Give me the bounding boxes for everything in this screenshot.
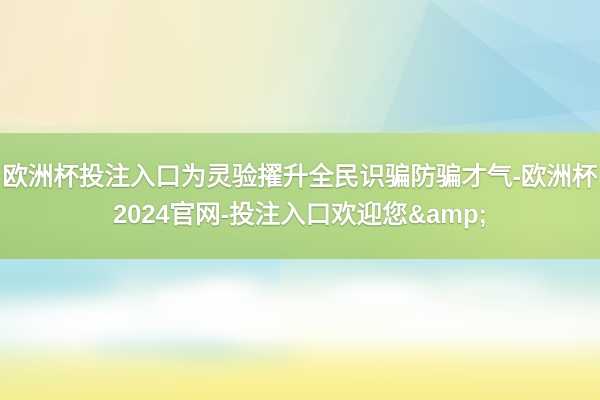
sky-cloud-band (0, 259, 600, 400)
cloud-puff-5 (430, 277, 550, 299)
cloud-puff-3 (330, 283, 434, 307)
cloud-puff-4 (28, 305, 148, 331)
headline-line-1: 欧洲杯投注入口为灵验擢升全民识骗防骗才气-欧洲杯 (3, 160, 598, 194)
cloud-puff-2 (196, 281, 258, 305)
top-polygon-band (0, 0, 600, 134)
headline-line-2: 2024官网-投注入口欢迎您&amp; (113, 198, 487, 232)
headline-block: 欧洲杯投注入口为灵验擢升全民识骗防骗才气-欧洲杯 2024官网-投注入口欢迎您&… (0, 133, 600, 259)
polygon-facets (0, 0, 600, 134)
sky-bottom-warm-fade (0, 338, 600, 400)
banner-image: 欧洲杯投注入口为灵验擢升全民识骗防骗才气-欧洲杯 2024官网-投注入口欢迎您&… (0, 0, 600, 400)
